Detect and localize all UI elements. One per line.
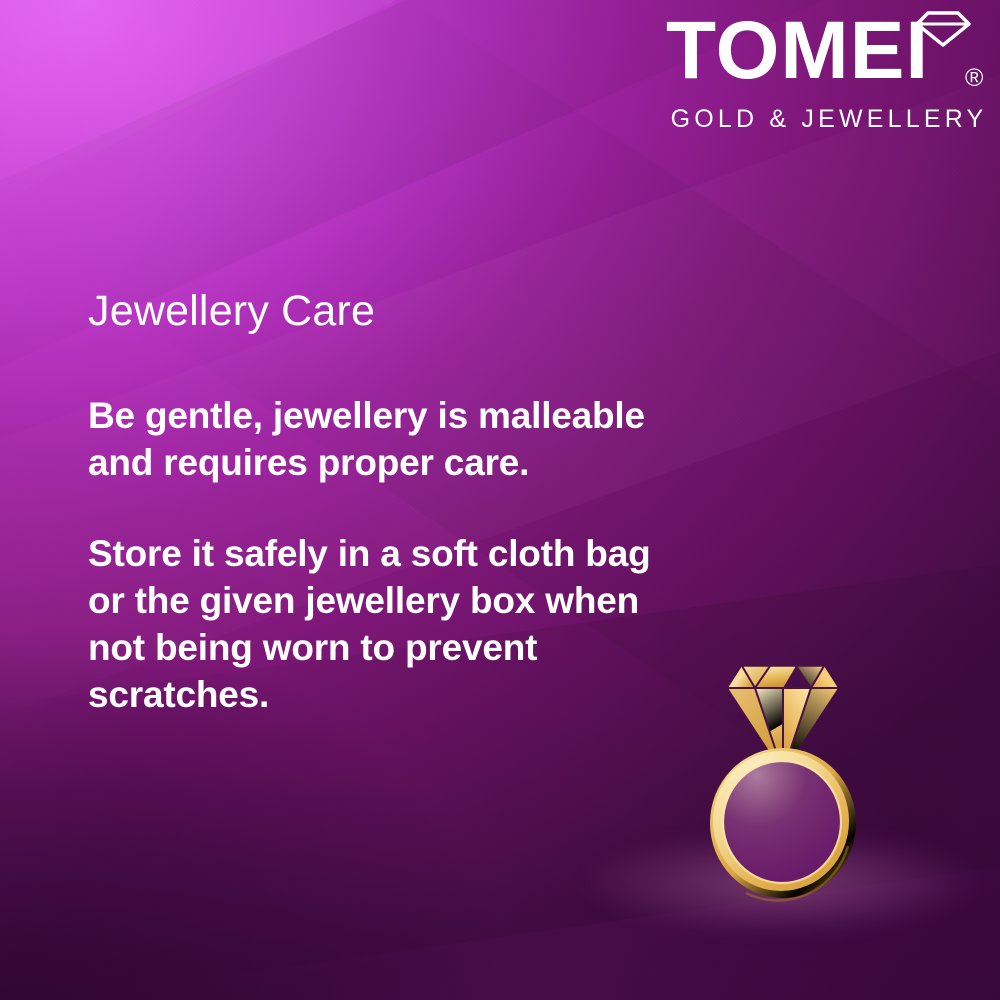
logo-wordmark-text: TOMEI bbox=[666, 8, 929, 94]
logo-wordmark-row: TOMEI ® bbox=[660, 8, 990, 94]
registered-trademark-icon: ® bbox=[965, 66, 983, 91]
diamond-ring-illustration bbox=[700, 650, 880, 910]
page-title: Jewellery Care bbox=[88, 286, 678, 336]
tomei-logo: TOMEI ® GOLD & JEWELLERY bbox=[660, 8, 990, 94]
jewellery-care-poster: TOMEI ® GOLD & JEWELLERY Jewellery Care … bbox=[0, 0, 1000, 1000]
gold-ring-icon bbox=[710, 748, 856, 900]
care-copy-block: Jewellery Care Be gentle, jewellery is m… bbox=[88, 286, 678, 718]
logo-tagline: GOLD & JEWELLERY bbox=[668, 104, 990, 134]
care-paragraph-2: Store it safely in a soft cloth bag or t… bbox=[88, 530, 678, 718]
diamond-outline-icon bbox=[914, 10, 972, 48]
care-paragraph-1: Be gentle, jewellery is malleable and re… bbox=[88, 392, 678, 486]
